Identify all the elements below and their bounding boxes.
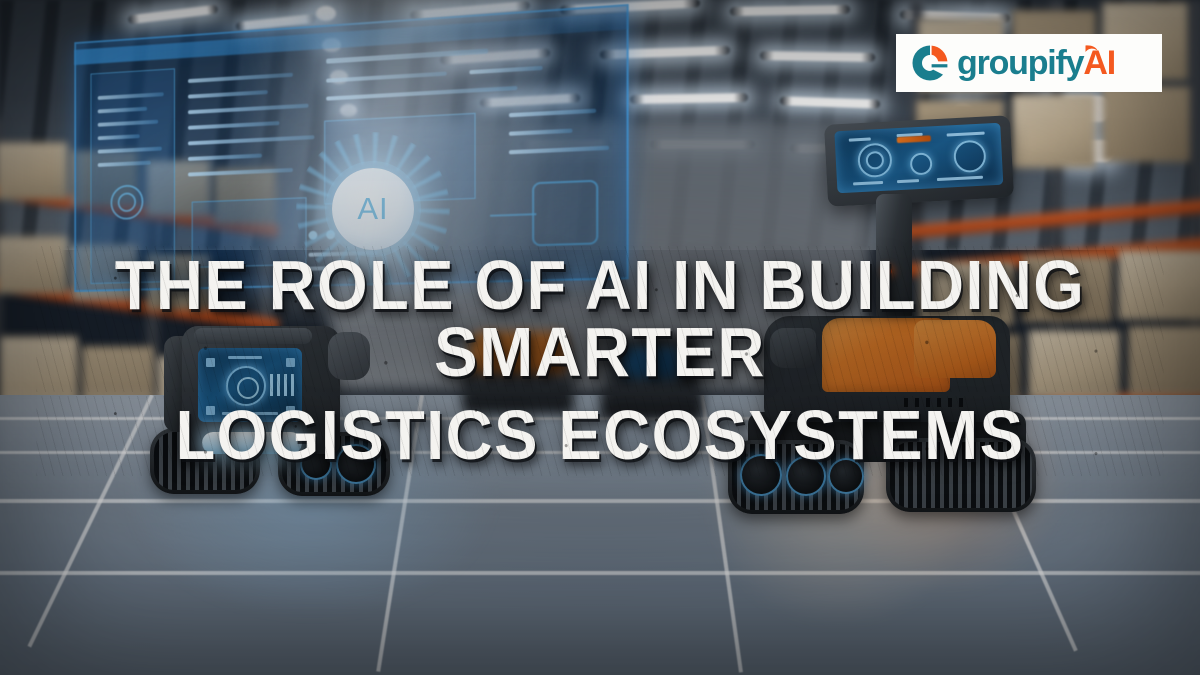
brand-logo[interactable]: groupifyAI [896,34,1162,92]
right-robot-mast-display-shell [824,115,1014,207]
right-robot-front-sensor [770,328,816,368]
leaf-accent-icon [1085,45,1098,57]
left-tracked-robot [150,322,400,522]
right-robot-dashboard [834,123,1003,194]
hero-banner: AI [0,0,1200,675]
left-robot-sensor-pod [328,332,370,380]
right-tracked-robot [718,120,1048,520]
hologram-light-haze [250,0,550,310]
right-robot-vent [904,398,966,407]
background-dark-robot [600,336,704,420]
right-robot-mast [876,194,912,322]
logo-word-groupify: groupify [957,44,1083,82]
groupify-g-mark-icon [910,43,950,83]
left-robot-display [198,348,302,422]
brand-logo-wordmark: groupifyAI [957,46,1115,80]
warehouse-scene: AI [0,0,1200,675]
right-robot-status-led [885,268,892,275]
left-robot-light-bar [202,432,302,454]
background-orange-robot [462,332,574,418]
